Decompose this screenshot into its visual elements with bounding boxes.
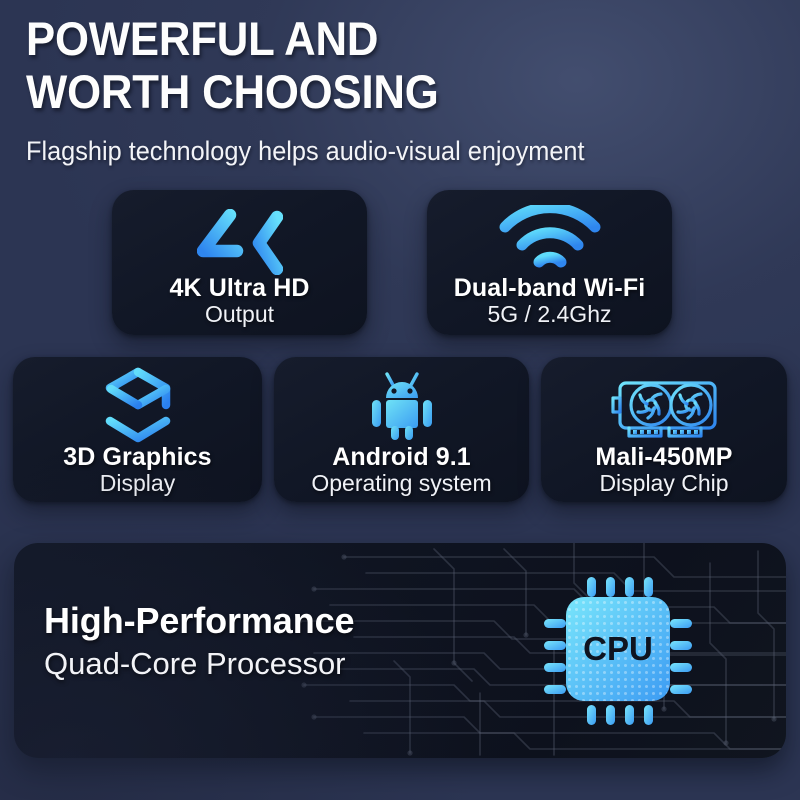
feature-title: Mali-450MP: [529, 443, 799, 472]
feature-subtitle: Operating system: [262, 470, 541, 497]
feature-title: 3D Graphics: [1, 443, 274, 472]
cpu-banner[interactable]: High-Performance Quad-Core Processor: [14, 543, 786, 758]
feature-subtitle: Display Chip: [529, 470, 799, 497]
feature-title: Android 9.1: [262, 443, 541, 472]
product-feature-poster: POWERFUL AND WORTH CHOOSING Flagship tec…: [0, 0, 800, 800]
feature-card-android[interactable]: Android 9.1 Operating system: [274, 357, 529, 502]
page-title: POWERFUL AND WORTH CHOOSING: [26, 12, 714, 118]
feature-card-3d-graphics[interactable]: 3D Graphics Display: [13, 357, 262, 502]
feature-card-dual-band-wifi[interactable]: Dual-band Wi-Fi 5G / 2.4Ghz: [427, 190, 672, 335]
feature-subtitle: 5G / 2.4Ghz: [415, 301, 684, 328]
gpu-card-icon: [541, 371, 787, 443]
android-robot-icon: [274, 366, 529, 444]
feature-title: Dual-band Wi-Fi: [415, 274, 684, 303]
wifi-icon: [427, 206, 672, 276]
feature-card-4k-ultra-hd[interactable]: 4K Ultra HD Output: [112, 190, 367, 335]
banner-subtitle: Quad-Core Processor: [44, 646, 354, 682]
cpu-chip-icon: CPU: [538, 571, 698, 736]
page-subtitle: Flagship technology helps audio-visual e…: [26, 135, 733, 167]
banner-title: High-Performance: [44, 600, 354, 642]
header-block: POWERFUL AND WORTH CHOOSING Flagship tec…: [26, 12, 766, 167]
feature-subtitle: Output: [100, 301, 379, 328]
cpu-chip-label: CPU: [583, 630, 653, 667]
feature-subtitle: Display: [1, 470, 274, 497]
cube-3d-icon: [13, 367, 262, 443]
feature-title: 4K Ultra HD: [100, 274, 379, 303]
banner-text-block: High-Performance Quad-Core Processor: [44, 600, 354, 682]
feature-card-mali-gpu[interactable]: Mali-450MP Display Chip: [541, 357, 787, 502]
4k-logo-icon: [112, 208, 367, 276]
